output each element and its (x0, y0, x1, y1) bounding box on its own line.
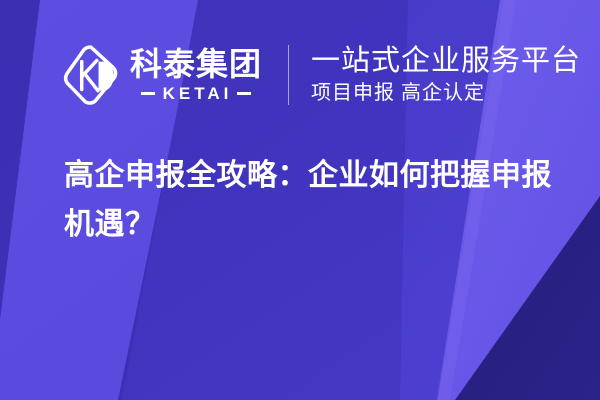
logo-company-name-en-row: KETAI (130, 85, 262, 102)
logo-dash-right-icon (237, 92, 251, 95)
logo-company-name-cn: 科泰集团 (130, 48, 262, 82)
logo-company-name-en: KETAI (155, 85, 238, 102)
ketai-kt-monogram-icon (62, 44, 120, 106)
brand-header: 科泰集团 KETAI 一站式企业服务平台 项目申报 高企认定 (62, 36, 581, 114)
header-vertical-divider (288, 45, 289, 105)
page-title: 高企申报全攻略：企业如何把握申报机遇？ (64, 152, 564, 249)
slogan-block: 一站式企业服务平台 项目申报 高企认定 (311, 45, 581, 105)
brand-logo[interactable]: 科泰集团 KETAI (62, 44, 262, 106)
logo-wordmark: 科泰集团 KETAI (130, 48, 262, 102)
logo-dash-left-icon (141, 92, 155, 95)
slogan-primary: 一站式企业服务平台 (311, 45, 581, 77)
banner-content: 科泰集团 KETAI 一站式企业服务平台 项目申报 高企认定 高企申报全攻略：企… (0, 0, 600, 400)
article-cover-banner: 科泰集团 KETAI 一站式企业服务平台 项目申报 高企认定 高企申报全攻略：企… (0, 0, 600, 400)
slogan-secondary: 项目申报 高企认定 (311, 82, 581, 105)
